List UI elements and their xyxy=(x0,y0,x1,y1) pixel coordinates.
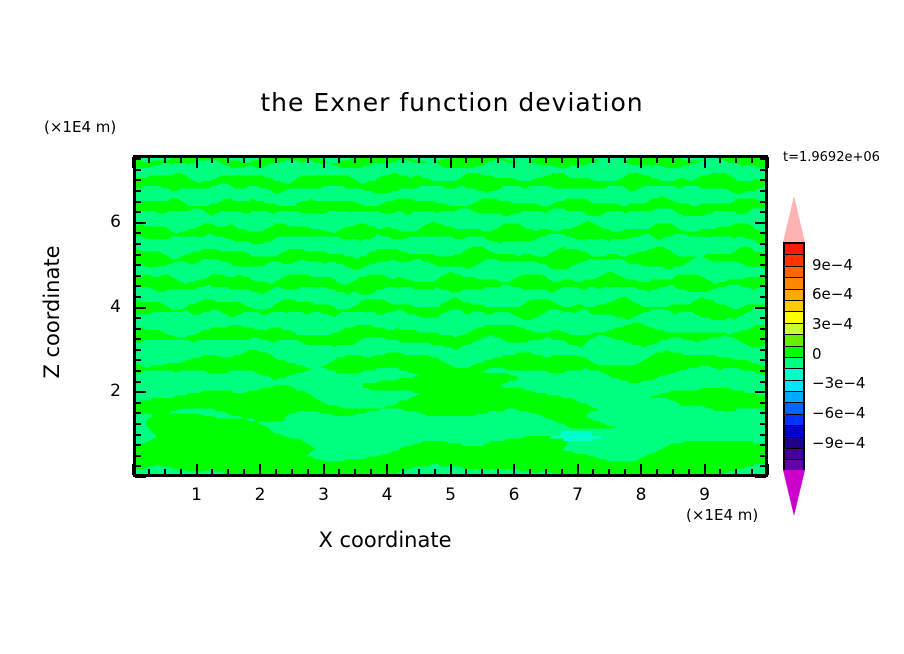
x-tick-label: 2 xyxy=(240,485,280,505)
colorbar-segment xyxy=(785,324,803,335)
colorbar-segment xyxy=(785,403,803,414)
x-tick xyxy=(402,469,404,475)
x-axis-title: X coordinate xyxy=(0,528,770,552)
x-tick xyxy=(307,157,309,163)
x-tick xyxy=(196,157,198,168)
x-tick xyxy=(513,157,515,168)
x-tick xyxy=(592,469,594,475)
x-tick xyxy=(513,464,515,475)
y-tick xyxy=(135,179,141,181)
colorbar-segment xyxy=(785,415,803,426)
y-tick xyxy=(135,349,141,351)
x-tick xyxy=(323,157,325,168)
x-tick xyxy=(307,469,309,475)
x-tick xyxy=(465,157,467,163)
y-tick xyxy=(135,285,141,287)
x-tick xyxy=(529,469,531,475)
x-tick xyxy=(561,157,563,163)
y-tick xyxy=(760,402,766,404)
x-tick xyxy=(180,157,182,163)
x-tick xyxy=(211,469,213,475)
x-tick xyxy=(656,157,658,163)
x-tick-label: 7 xyxy=(558,485,598,505)
colorbar-segment xyxy=(785,369,803,380)
x-tick xyxy=(688,157,690,163)
colorbar-bottom-arrow xyxy=(783,470,805,516)
y-tick xyxy=(135,370,141,372)
x-tick xyxy=(227,157,229,163)
contour-plot-area xyxy=(133,155,768,477)
y-tick xyxy=(135,222,146,224)
contour-field xyxy=(136,158,765,474)
y-tick xyxy=(760,381,766,383)
colorbar-label: −9e−4 xyxy=(812,434,865,452)
y-tick xyxy=(760,211,766,213)
x-tick xyxy=(561,469,563,475)
y-tick xyxy=(135,232,141,234)
y-tick xyxy=(760,338,766,340)
x-tick xyxy=(767,157,769,168)
x-tick xyxy=(751,469,753,475)
x-tick xyxy=(402,157,404,163)
y-tick xyxy=(135,328,141,330)
x-tick xyxy=(275,469,277,475)
x-tick xyxy=(275,157,277,163)
x-axis-unit-label: (×1E4 m) xyxy=(686,506,758,524)
x-tick xyxy=(243,157,245,163)
x-tick xyxy=(481,469,483,475)
x-tick xyxy=(751,157,753,163)
colorbar-segment xyxy=(785,301,803,312)
colorbar-segment xyxy=(785,244,803,255)
y-tick xyxy=(760,328,766,330)
y-tick xyxy=(135,190,141,192)
colorbar-segment xyxy=(785,255,803,266)
colorbar-segment xyxy=(785,267,803,278)
colorbar-label: 9e−4 xyxy=(812,256,853,274)
y-tick xyxy=(760,423,766,425)
y-tick xyxy=(135,391,146,393)
colorbar-segments xyxy=(783,242,805,470)
y-tick xyxy=(135,317,141,319)
y-tick xyxy=(760,370,766,372)
x-tick-label: 3 xyxy=(304,485,344,505)
colorbar: 9e−46e−43e−40−3e−4−6e−4−9e−4 xyxy=(776,196,816,516)
y-tick xyxy=(760,296,766,298)
x-tick xyxy=(656,469,658,475)
x-tick xyxy=(259,464,261,475)
y-tick xyxy=(760,275,766,277)
x-tick xyxy=(148,157,150,163)
y-tick xyxy=(135,243,141,245)
x-tick xyxy=(434,157,436,163)
x-tick xyxy=(291,157,293,163)
y-tick xyxy=(760,434,766,436)
colorbar-segment xyxy=(785,278,803,289)
x-tick xyxy=(608,469,610,475)
y-tick xyxy=(760,169,766,171)
y-tick xyxy=(760,179,766,181)
page-title: the Exner function deviation xyxy=(0,88,904,117)
x-tick xyxy=(338,469,340,475)
x-tick xyxy=(386,464,388,475)
colorbar-label: 6e−4 xyxy=(812,285,853,303)
y-tick xyxy=(755,391,766,393)
x-tick xyxy=(624,157,626,163)
x-tick xyxy=(386,157,388,168)
y-tick xyxy=(760,349,766,351)
x-tick xyxy=(529,157,531,163)
x-tick-label: 9 xyxy=(685,485,725,505)
y-tick xyxy=(760,444,766,446)
x-tick xyxy=(497,469,499,475)
y-tick xyxy=(135,296,141,298)
colorbar-segment xyxy=(785,347,803,358)
y-tick xyxy=(135,359,141,361)
y-tick xyxy=(760,264,766,266)
x-tick xyxy=(481,157,483,163)
x-tick xyxy=(545,469,547,475)
x-tick-label: 6 xyxy=(494,485,534,505)
x-tick xyxy=(132,464,134,475)
x-tick xyxy=(735,157,737,163)
x-tick xyxy=(672,469,674,475)
x-tick xyxy=(688,469,690,475)
colorbar-segment xyxy=(785,312,803,323)
y-tick xyxy=(135,434,141,436)
x-tick xyxy=(323,464,325,475)
x-tick xyxy=(418,157,420,163)
y-tick xyxy=(135,158,141,160)
colorbar-segment xyxy=(785,358,803,369)
x-tick xyxy=(577,157,579,168)
colorbar-segment xyxy=(785,335,803,346)
colorbar-label: −6e−4 xyxy=(812,404,865,422)
y-tick xyxy=(755,307,766,309)
x-tick-label: 8 xyxy=(621,485,661,505)
y-tick xyxy=(760,412,766,414)
x-tick xyxy=(608,157,610,163)
y-tick xyxy=(135,169,141,171)
colorbar-segment xyxy=(785,438,803,449)
y-tick xyxy=(135,211,141,213)
x-tick xyxy=(164,469,166,475)
y-tick-label: 2 xyxy=(81,381,121,401)
colorbar-segment xyxy=(785,426,803,437)
x-tick xyxy=(577,464,579,475)
y-tick xyxy=(135,381,141,383)
x-tick xyxy=(418,469,420,475)
x-tick xyxy=(196,464,198,475)
colorbar-segment xyxy=(785,449,803,460)
x-tick xyxy=(624,469,626,475)
x-tick xyxy=(767,464,769,475)
x-tick xyxy=(545,157,547,163)
y-tick xyxy=(760,455,766,457)
colorbar-label: −3e−4 xyxy=(812,374,865,392)
y-tick xyxy=(760,359,766,361)
y-tick xyxy=(755,222,766,224)
x-tick xyxy=(592,157,594,163)
x-tick xyxy=(465,469,467,475)
x-tick xyxy=(132,157,134,168)
x-tick xyxy=(354,469,356,475)
x-tick xyxy=(164,157,166,163)
x-tick xyxy=(180,469,182,475)
x-tick-label: 5 xyxy=(431,485,471,505)
x-tick xyxy=(148,469,150,475)
y-tick xyxy=(760,201,766,203)
time-annotation: t=1.9692e+06 xyxy=(783,150,880,165)
colorbar-segment xyxy=(785,290,803,301)
y-tick xyxy=(135,254,141,256)
y-tick xyxy=(135,455,141,457)
y-tick xyxy=(135,476,146,478)
y-tick xyxy=(135,465,141,467)
x-tick xyxy=(370,469,372,475)
x-tick xyxy=(735,469,737,475)
colorbar-label: 0 xyxy=(812,345,822,363)
y-tick xyxy=(760,285,766,287)
y-tick xyxy=(760,243,766,245)
x-tick-label: 1 xyxy=(177,485,217,505)
x-tick xyxy=(338,157,340,163)
y-tick xyxy=(135,402,141,404)
x-tick xyxy=(450,157,452,168)
y-tick xyxy=(135,412,141,414)
y-tick xyxy=(760,254,766,256)
x-tick xyxy=(719,157,721,163)
x-tick xyxy=(450,464,452,475)
y-tick xyxy=(760,158,766,160)
y-tick xyxy=(755,476,766,478)
y-tick xyxy=(135,444,141,446)
y-tick xyxy=(760,232,766,234)
x-tick-label: 4 xyxy=(367,485,407,505)
y-tick xyxy=(135,338,141,340)
y-tick xyxy=(135,201,141,203)
y-tick-label: 4 xyxy=(81,297,121,317)
x-tick xyxy=(370,157,372,163)
x-tick xyxy=(704,157,706,168)
y-tick xyxy=(135,307,146,309)
y-tick xyxy=(135,264,141,266)
colorbar-segment xyxy=(785,381,803,392)
x-tick xyxy=(243,469,245,475)
x-tick xyxy=(259,157,261,168)
y-tick xyxy=(135,275,141,277)
colorbar-label: 3e−4 xyxy=(812,315,853,333)
x-tick xyxy=(227,469,229,475)
x-tick xyxy=(211,157,213,163)
y-tick xyxy=(760,190,766,192)
x-tick xyxy=(434,469,436,475)
y-axis-title: Z coordinate xyxy=(40,212,64,412)
x-tick xyxy=(354,157,356,163)
x-tick xyxy=(719,469,721,475)
colorbar-segment xyxy=(785,392,803,403)
y-tick-label: 6 xyxy=(81,212,121,232)
y-tick xyxy=(760,317,766,319)
y-tick xyxy=(760,465,766,467)
x-tick xyxy=(291,469,293,475)
x-tick xyxy=(497,157,499,163)
x-tick xyxy=(704,464,706,475)
x-tick xyxy=(672,157,674,163)
y-tick xyxy=(135,423,141,425)
y-axis-unit-label: (×1E4 m) xyxy=(44,118,116,136)
x-tick xyxy=(640,464,642,475)
x-tick xyxy=(640,157,642,168)
colorbar-top-arrow xyxy=(783,196,805,242)
